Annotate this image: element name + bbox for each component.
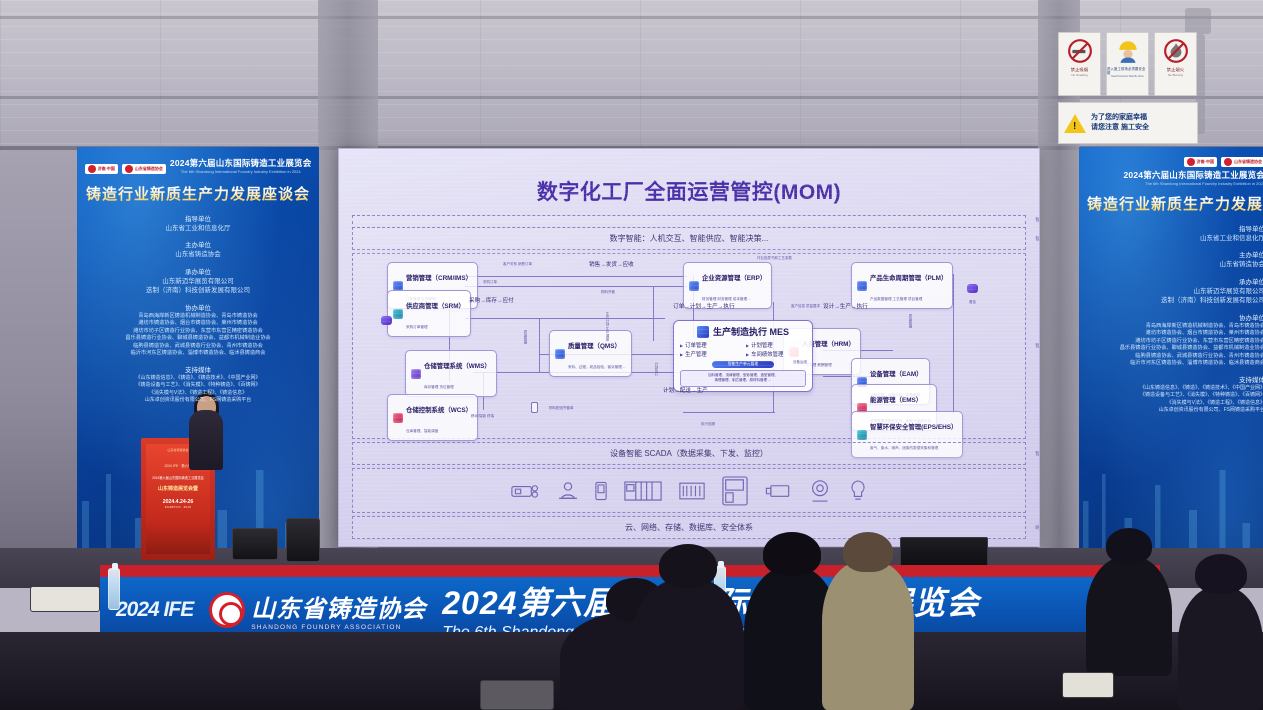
node-title: 企业资源管理（ERP） — [702, 275, 766, 282]
cloud-terminal-icon — [381, 316, 392, 325]
mes-icon — [697, 326, 709, 338]
logo-mark-icon — [88, 165, 96, 173]
industrial-pc-icon — [722, 476, 748, 506]
media-block: 支持媒体 《山东铸造信息》、《铸造》、《铸造技术》、《中国产业网》 《铸造设备与… — [85, 364, 311, 405]
node-srm[interactable]: 供应商管理（SRM） 采购订单管理 — [387, 290, 471, 337]
erp-icon — [689, 281, 699, 291]
flow-label: 计划→配送→生产 — [663, 386, 708, 394]
audience-person — [822, 562, 914, 710]
banner-logo-row: 济南·中国 山东省铸造协会 2024第六届山东国际铸造工业展览会 The 6th… — [85, 157, 311, 181]
water-bottle — [108, 568, 120, 610]
stage-speaker-box — [286, 518, 320, 562]
organization-block: 主办单位 山东省铸造协会 — [1087, 249, 1263, 269]
sign-label-en: No Smoking — [1071, 73, 1087, 77]
sign-label-en: No Burning — [1168, 73, 1183, 77]
logo-mark-icon — [125, 165, 133, 173]
kanban-display-icon — [967, 284, 978, 293]
connector-line — [465, 276, 687, 277]
srm-icon — [393, 309, 403, 319]
audience-person — [1178, 586, 1263, 710]
person-head — [1195, 554, 1247, 594]
warning-triangle-icon — [1064, 114, 1086, 133]
node-title: 质量管理（QMS） — [568, 343, 621, 350]
plm-icon — [857, 281, 867, 291]
layer-center-text: 设备智能 SCADA（数据采集、下发、监控） — [353, 443, 1025, 464]
organization-block: 主办单位 山东省铸造协会 — [85, 239, 311, 259]
safety-warning-banner: 为了您的家庭幸福 请您注意 施工安全 — [1058, 102, 1198, 144]
flow-label-small: 设备运维 — [793, 360, 807, 365]
event-theme-title: 铸造行业新质生产力发展座谈会 — [85, 183, 311, 204]
flow-label-small: 客户信息 质量要求 — [791, 304, 820, 309]
association-name-cn: 山东省铸造协会 — [251, 589, 426, 624]
layer-network-hardware: 云、网络、存储、数据库、安全体系 网络硬件 — [352, 516, 1026, 539]
wms-icon — [411, 369, 421, 379]
flow-label-small: 质量数据 — [909, 314, 914, 328]
layer-intelligent-production: 智能生产 — [352, 253, 1026, 439]
no-fire-icon — [1163, 38, 1189, 64]
name-card-placard — [30, 586, 100, 612]
organization-block: 承办单位 山东新迈华展览有限公司 迭制（济南）科技创新发展有限公司 — [85, 266, 311, 296]
event-banner-right: 济南·中国 山东省铸造协会 2024第六届山东国际铸造工业展览会 The 6th… — [1079, 147, 1263, 567]
node-wms[interactable]: 仓储管理系统（WMS） 库存管理 货位管理 — [405, 350, 497, 397]
person-head — [843, 532, 893, 572]
node-subtitle: 采购订单管理 — [406, 325, 428, 329]
wcs-icon — [393, 413, 403, 423]
no-open-flame-sign: 禁止烟火 No Burning — [1154, 32, 1197, 96]
node-subtitle: 财务管理 财务管理 成本管理… — [702, 297, 751, 301]
sensor-lamp-icon — [849, 479, 867, 503]
handheld-terminal-icon — [595, 481, 607, 501]
node-title: 智慧环保安全管理(EPS/EHS） — [870, 424, 957, 431]
mes-item[interactable]: 计划管理 — [746, 341, 806, 349]
conference-photo-scene: 禁止吸烟 No Smoking 进入施工现场必须戴安全帽 Head Protec… — [0, 0, 1263, 710]
layer-tag: 智能控制 — [1035, 451, 1040, 457]
name-card-placard — [1062, 672, 1114, 698]
connector-line — [539, 318, 540, 372]
organizer-logo-badge: 济南·中国 — [85, 164, 118, 174]
banner-logo-row: 济南·中国 山东省铸造协会 — [1087, 157, 1263, 167]
mes-detail-box: 加料管理、浇铸管理、型砂管理、造型管理、 清理管理、制芯管理、原材料管理 … — [680, 370, 806, 387]
crm-icon — [393, 281, 403, 291]
safety-sign-group: 禁止吸烟 No Smoking 进入施工现场必须戴安全帽 Head Protec… — [1058, 32, 1198, 144]
camera-icon — [808, 479, 832, 503]
association-name-en: SHANDONG FOUNDRY ASSOCIATION — [251, 624, 426, 631]
flow-label-small: 计划执行 — [655, 362, 660, 376]
node-title: 仓储管理系统（WMS） — [424, 363, 491, 370]
node-title: 产品生命周期管理（PLM） — [870, 275, 947, 282]
flow-label-small: 看板 — [969, 300, 976, 305]
layer-intelligent-decision: 智能决策 — [352, 215, 1026, 224]
flow-label-small: 物料配送齐套单 — [549, 406, 574, 411]
layer-tag: 网络硬件 — [1035, 525, 1040, 531]
layer-tag: 智能生产 — [1035, 343, 1040, 349]
node-subtitle: 来料、过程、成品检验、客诉管理… — [568, 365, 626, 369]
logo-mark-icon — [1224, 158, 1232, 166]
layer-intelligent-operation: 数字智能：人机交互、智能供应、智能决策... 智能运营 — [352, 227, 1026, 250]
organization-block: 协办单位 青岛西海岸新区铸造机械制造协会、青岛市铸造协会 潍坊市铸造协会、烟台市… — [85, 302, 311, 358]
flow-label: 订单→计划→生产→执行 — [673, 302, 735, 310]
node-title: 能源管理（EMS） — [870, 397, 922, 404]
event-theme-title: 铸造行业新质生产力发展座谈会 — [1087, 193, 1263, 214]
expo-name-cn: 2024第六届山东国际铸造工业展览会 — [1087, 169, 1263, 181]
cnc-machine-icon — [511, 481, 541, 501]
media-block: 支持媒体 《山东铸造信息》、《铸造》、《铸造技术》、《中国产业网》 《铸造设备与… — [1087, 374, 1263, 415]
podium-line-4: 山东铸造展览会暨 — [146, 485, 210, 492]
podium-line-3: 2024第六届山东国际铸造工业展览会 — [146, 475, 210, 480]
warning-line-1: 为了您的家庭幸福 — [1091, 113, 1149, 124]
mes-item-grid: 订单管理 计划管理 生产管理 车间绩效管理 — [680, 341, 806, 358]
flow-label-small: 物料齐套 — [601, 290, 615, 295]
node-mes[interactable]: 生产制造执行 MES 订单管理 计划管理 生产管理 车间绩效管理 智能生产单元管… — [673, 320, 813, 392]
podium-date-en: EXHIBITION · JINAN — [146, 505, 210, 509]
stage-speaker-box — [232, 528, 278, 560]
person-head — [763, 532, 821, 576]
mes-item[interactable]: 生产管理 — [680, 350, 740, 358]
hard-hat-worker-icon — [1115, 38, 1141, 64]
flow-label-small: 客户关系 销售订单 — [503, 262, 532, 267]
connector-line — [653, 286, 654, 341]
person-head — [1106, 528, 1152, 564]
expo-name-en: The 6th Shandong International Foundry I… — [170, 169, 312, 174]
warning-line-2: 请您注意 施工安全 — [1091, 123, 1149, 134]
layer-center-text: 数字智能：人机交互、智能供应、智能决策... — [353, 228, 1025, 249]
name-card-placard — [480, 680, 554, 710]
flow-label-small: 执行回报 — [701, 422, 715, 427]
mes-unit-pill: 智能生产单元管理 — [712, 361, 774, 368]
sign-label-en: Head Protection Must Be Worn — [1111, 75, 1144, 78]
ceiling-duct — [1185, 8, 1211, 34]
expo-name-en: The 6th Shandong International Foundry I… — [1087, 181, 1263, 186]
audience-person — [1086, 556, 1172, 676]
mes-item[interactable]: 订单管理 — [680, 341, 740, 349]
node-wcs[interactable]: 仓储控制系统（WCS） 仓库管理、智能调度 — [387, 394, 478, 441]
node-subtitle: 库存管理 货位管理 — [424, 385, 454, 389]
organization-block: 承办单位 山东新迈华展览有限公司 迭制（济南）科技创新发展有限公司 — [1087, 276, 1263, 306]
person-head — [659, 544, 717, 588]
flow-label-small: 作业指导书和工艺参数 — [757, 256, 792, 261]
flow-label: 设计→生产→执行 — [823, 302, 868, 310]
plc-rack-icon — [624, 480, 662, 502]
node-title: 供应商管理（SRM） — [406, 303, 465, 310]
flow-label: 采购→库存→应付 — [469, 296, 514, 304]
qms-icon — [555, 349, 565, 359]
connector-line — [683, 412, 775, 413]
layer-tag: 智能决策 — [1035, 217, 1040, 223]
organization-block: 指导单位 山东省工业和信息化厅 — [85, 213, 311, 233]
audience-person — [632, 578, 744, 710]
device-icon-strip — [352, 468, 1026, 513]
barcode-scanner-icon — [679, 482, 705, 500]
mobile-terminal-icon — [531, 402, 538, 413]
no-smoking-sign: 禁止吸烟 No Smoking — [1058, 32, 1101, 96]
expo-name-cn: 2024第六届山东国际铸造工业展览会 — [170, 157, 312, 169]
association-seal-icon — [209, 592, 245, 628]
layer-intelligent-control: 设备智能 SCADA（数据采集、下发、监控） 智能控制 — [352, 442, 1026, 465]
ehs-icon — [857, 430, 867, 440]
layer-center-text: 云、网络、存储、数据库、安全体系 — [353, 517, 1025, 538]
flow-label-small: 移动/智能 终端 — [471, 414, 494, 419]
node-qms[interactable]: 质量管理（QMS） 来料、过程、成品检验、客诉管理… — [549, 330, 632, 377]
expo-logo-text: 2024 IFE — [116, 598, 193, 622]
flow-label-small: 质量数据 — [524, 330, 529, 344]
flow-label-small: 生产计划 生产调度 — [606, 312, 611, 341]
mes-item[interactable]: 车间绩效管理 — [746, 350, 806, 358]
presentation-screen: 数字化工厂全面运营管控(MOM) 智能决策 数字智能：人机交互、智能供应、智能决… — [338, 148, 1040, 547]
flow-label: 销售→发货→应收 — [589, 260, 634, 268]
association-logo: 山东省铸造协会 SHANDONG FOUNDRY ASSOCIATION — [209, 589, 426, 631]
logo-mark-icon — [1187, 158, 1195, 166]
node-subtitle: 仓库管理、智能调度 — [406, 429, 438, 433]
robot-arm-icon — [558, 481, 578, 501]
mes-title: 生产制造执行 MES — [713, 325, 789, 338]
organization-block: 指导单位 山东省工业和信息化厅 — [1087, 223, 1263, 243]
helmet-required-sign: 进入施工现场必须戴安全帽 Head Protection Must Be Wor… — [1106, 32, 1149, 96]
connector-line — [953, 274, 954, 414]
connector-line — [465, 318, 665, 319]
mom-architecture-diagram: 智能决策 数字智能：人机交互、智能供应、智能决策... 智能运营 智能生产 — [352, 215, 1026, 539]
association-logo-badge: 山东省铸造协会 — [1221, 157, 1263, 167]
layer-tag: 智能运营 — [1035, 236, 1040, 242]
node-title: 仓储控制系统（WCS） — [406, 407, 472, 414]
organization-block: 协办单位 青岛西海岸新区铸造机械制造协会、青岛市铸造协会 潍坊市铸造协会、烟台市… — [1087, 312, 1263, 368]
node-title: 设备管理（EAM） — [870, 371, 923, 378]
slide-title: 数字化工厂全面运营管控(MOM) — [339, 176, 1039, 206]
motor-icon — [765, 483, 791, 499]
association-logo-badge: 山东省铸造协会 — [122, 164, 166, 174]
flow-label-small: 采购订单 — [483, 280, 497, 285]
sign-label-cn: 进入施工现场必须戴安全帽 — [1107, 67, 1148, 75]
no-smoking-icon — [1067, 38, 1093, 64]
node-title: 营销管理（CRM/IMS） — [406, 275, 472, 282]
organizer-logo-badge: 济南·中国 — [1184, 157, 1217, 167]
node-subtitle: 产品数据管理 工艺管理 项目管理 — [870, 297, 922, 301]
